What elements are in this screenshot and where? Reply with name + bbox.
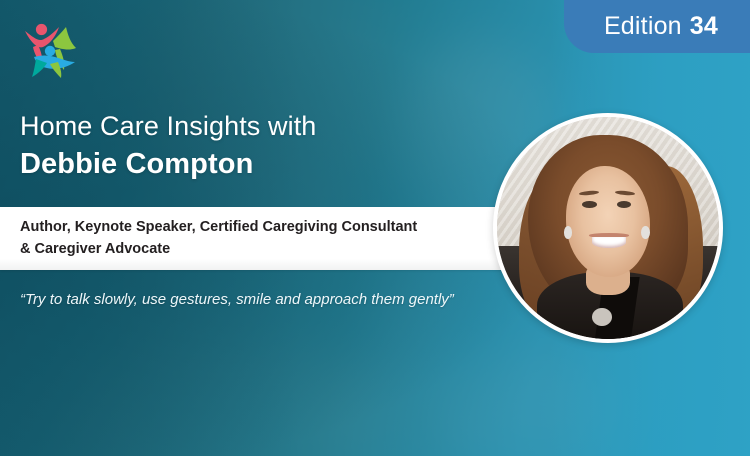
newsletter-banner: Edition 34 Home Care Insights with Debbi… — [0, 0, 750, 456]
portrait-smile — [592, 237, 625, 248]
headline-speaker-name: Debbie Compton — [20, 146, 490, 184]
edition-label: Edition — [604, 12, 682, 41]
headline-series-title: Home Care Insights with — [20, 110, 490, 144]
headline: Home Care Insights with Debbie Compton — [20, 110, 490, 183]
speaker-credentials: Author, Keynote Speaker, Certified Careg… — [20, 217, 420, 259]
speaker-portrait — [493, 113, 723, 343]
speaker-portrait-image — [497, 117, 719, 339]
portrait-necklace — [592, 308, 612, 326]
people-group-logo-icon[interactable] — [14, 18, 86, 80]
subtitle-bar: Author, Keynote Speaker, Certified Careg… — [0, 207, 520, 270]
edition-number: 34 — [690, 12, 718, 41]
speaker-quote: “Try to talk slowly, use gestures, smile… — [20, 288, 470, 313]
edition-badge: Edition 34 — [564, 0, 750, 53]
